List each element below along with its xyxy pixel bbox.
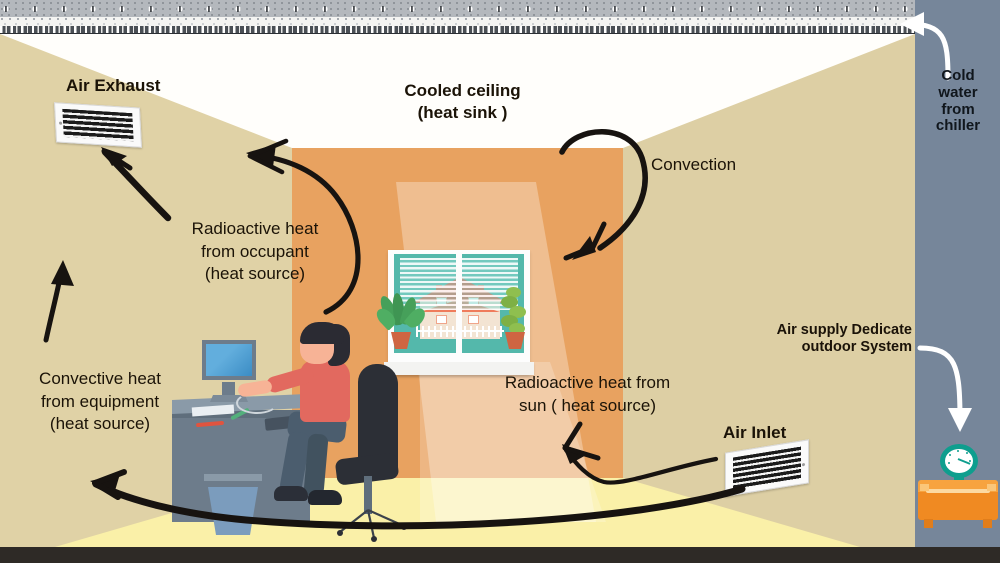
grille-louvers [62, 109, 133, 142]
flower-pot [505, 332, 525, 349]
dedicate-line2: outdoor System [722, 339, 912, 356]
convection-label: Convection [651, 155, 736, 175]
person-shoe [274, 486, 308, 501]
gauge-face [945, 449, 973, 473]
monitor-screen [202, 340, 256, 380]
hvac-diagram: .ar { fill:none; stroke:#171310; stroke-… [0, 0, 1000, 563]
gauge-body [940, 444, 978, 478]
chiller-unit-icon [918, 480, 998, 528]
equipment-line3: (heat source) [10, 413, 190, 436]
chiller-foot [924, 519, 933, 528]
window-mullion [456, 254, 462, 353]
occupant-line2: from occupant [155, 241, 355, 264]
flower-pot [391, 332, 411, 349]
air-grille-icon[interactable] [54, 102, 142, 148]
monitor-stand [222, 382, 235, 397]
grille-screw [59, 122, 62, 125]
sun-line2: sun ( heat source) [480, 395, 695, 418]
ceiling-insulation-layer [0, 0, 915, 17]
house-window [436, 315, 447, 324]
house-window [468, 315, 479, 324]
baseboard [0, 547, 1000, 563]
equipment-line2: from equipment [10, 391, 190, 414]
chiller-vent [926, 489, 990, 493]
grille-screw [802, 463, 805, 466]
cold-water-line4: chiller [920, 118, 996, 135]
plant-left-icon [381, 293, 427, 349]
cold-water-line1: Cold [920, 68, 996, 85]
cold-water-line3: from [920, 102, 996, 119]
plant-right-icon [499, 287, 533, 349]
occupant-line1: Radioactive heat [155, 218, 355, 241]
window-icon [388, 250, 530, 375]
person-shin [303, 433, 328, 497]
dedicate-line1: Air supply Dedicate [722, 322, 912, 339]
cooled-ceiling-label: Cooled ceiling (heat sink ) [370, 80, 555, 124]
grille-louvers [733, 447, 801, 490]
sun-line1: Radioactive heat from [480, 372, 695, 395]
cooled-ceiling-line2: (heat sink ) [370, 102, 555, 124]
waste-bin-icon [208, 487, 258, 535]
person-shoe [308, 490, 342, 505]
equipment-heat-label: Convective heat from equipment (heat sou… [10, 368, 190, 436]
occupant-line3: (heat source) [155, 263, 355, 286]
chiller-foot [983, 519, 992, 528]
cooled-ceiling-plenum [0, 0, 915, 34]
chiller-tab [987, 484, 996, 491]
cooled-ceiling-line1: Cooled ceiling [370, 80, 555, 102]
air-inlet-label: Air Inlet [723, 423, 786, 443]
equipment-line1: Convective heat [10, 368, 190, 391]
occupant-heat-label: Radioactive heat from occupant (heat sou… [155, 218, 355, 286]
air-exhaust-label: Air Exhaust [66, 76, 160, 96]
desk-drawer [204, 474, 262, 481]
sun-heat-label: Radioactive heat from sun ( heat source) [480, 372, 695, 417]
gauge-needle [958, 458, 971, 465]
pressure-gauge-icon [940, 444, 978, 484]
air-supply-dedicate-outdoor-system-label: Air supply Dedicate outdoor System [722, 322, 912, 356]
chiller-tab [920, 484, 929, 491]
cold-water-line2: water [920, 85, 996, 102]
cold-water-label: Cold water from chiller [920, 68, 996, 135]
seated-person-icon [270, 314, 380, 539]
